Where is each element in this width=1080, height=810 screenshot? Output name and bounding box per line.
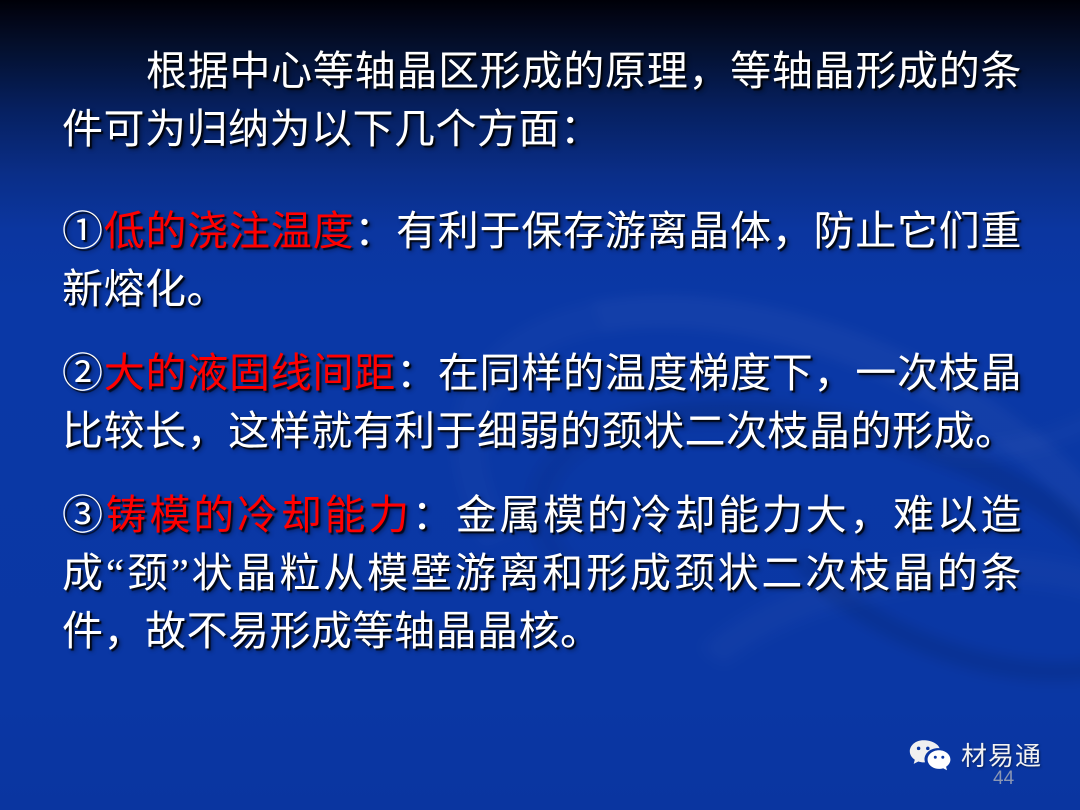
item-colon-2: ： (396, 350, 438, 396)
item-term-3: 铸模的冷却能力 (106, 492, 412, 538)
list-item-1: ①低的浇注温度：有利于保存游离晶体，防止它们重新熔化。 (62, 202, 1022, 318)
wechat-icon (908, 738, 952, 776)
list-item-2: ②大的液固线间距：在同样的温度梯度下，一次枝晶比较长，这样就有利于细弱的颈状二次… (62, 344, 1022, 460)
item-marker-3: ③ (62, 492, 106, 538)
intro-paragraph: 根据中心等轴晶区形成的原理，等轴晶形成的条件可为归纳为以下几个方面： (62, 42, 1022, 158)
item-term-2: 大的液固线间距 (104, 350, 396, 396)
watermark-label: 材易通 (961, 742, 1042, 772)
slide-canvas: 根据中心等轴晶区形成的原理，等轴晶形成的条件可为归纳为以下几个方面： ①低的浇注… (0, 0, 1080, 810)
item-marker-1: ① (62, 208, 104, 254)
list-item-3: ③铸模的冷却能力：金属模的冷却能力大，难以造成“颈”状晶粒从模壁游离和形成颈状二… (62, 486, 1022, 660)
slide-body: 根据中心等轴晶区形成的原理，等轴晶形成的条件可为归纳为以下几个方面： ①低的浇注… (62, 42, 1022, 686)
item-colon-3: ： (412, 492, 456, 538)
watermark: 材易通 (908, 738, 1042, 776)
item-colon-1: ： (354, 208, 396, 254)
item-term-1: 低的浇注温度 (104, 208, 355, 254)
item-marker-2: ② (62, 350, 104, 396)
